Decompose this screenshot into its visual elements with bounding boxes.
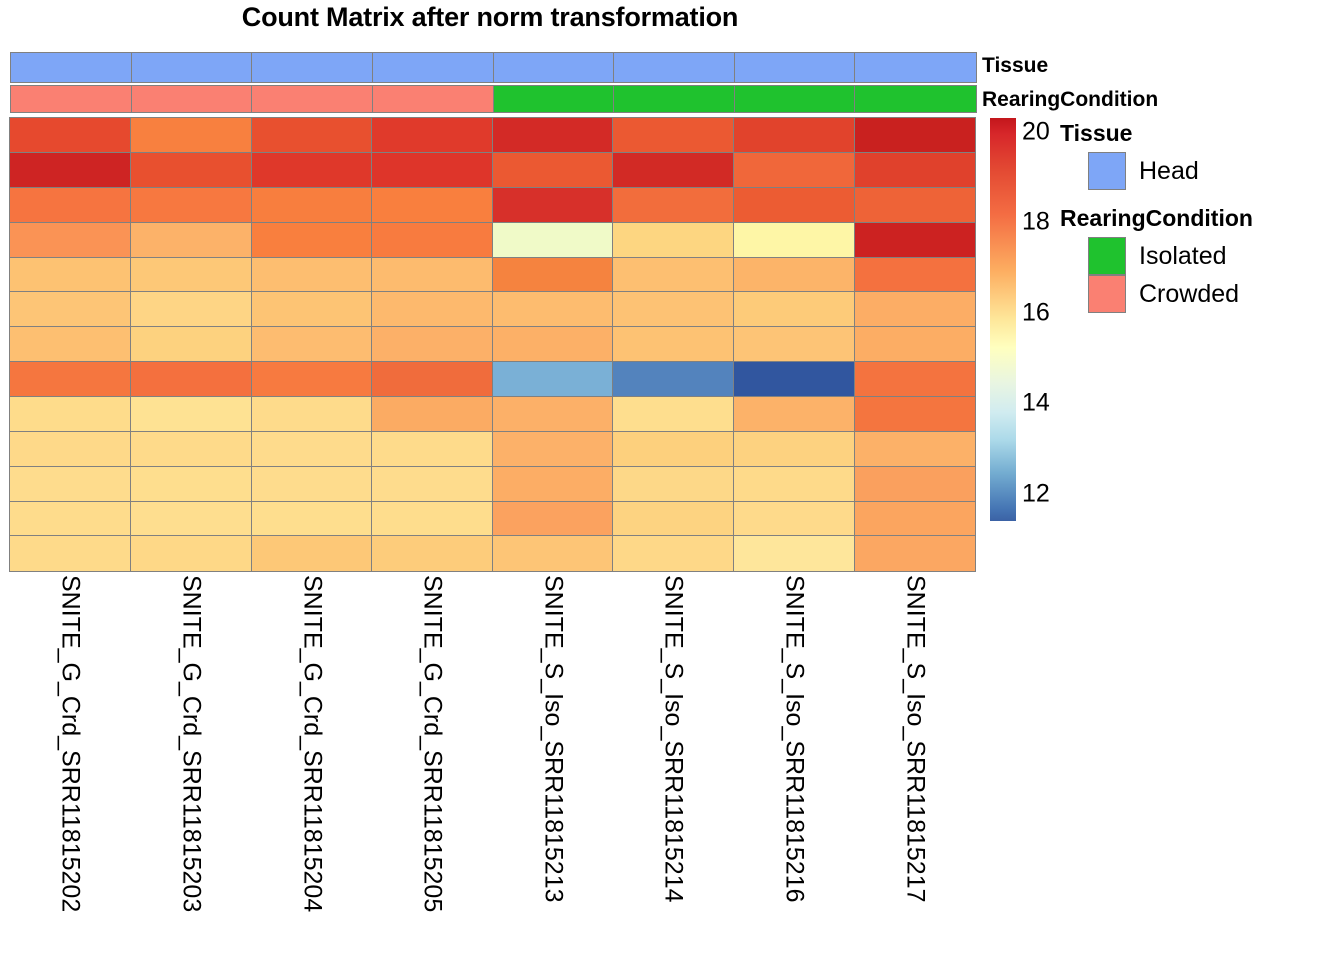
heatmap-cell bbox=[492, 326, 614, 362]
heatmap-cell bbox=[130, 187, 252, 223]
heatmap-cell bbox=[492, 535, 614, 571]
heatmap-cell bbox=[9, 117, 131, 153]
colorbar: 2018161412 bbox=[990, 118, 1016, 521]
heatmap-cell bbox=[612, 326, 734, 362]
colorbar-tick-label: 16 bbox=[1022, 298, 1050, 327]
heatmap-cell bbox=[854, 291, 976, 327]
heatmap-cell bbox=[492, 152, 614, 188]
heatmap-cell bbox=[130, 535, 252, 571]
heatmap-cell bbox=[492, 187, 614, 223]
heatmap-cell bbox=[612, 257, 734, 293]
heatmap-cell bbox=[251, 152, 373, 188]
legend-rearingcondition: RearingCondition IsolatedCrowded bbox=[1060, 205, 1253, 313]
annotation-rearingcondition-cell bbox=[10, 85, 132, 113]
heatmap-cell bbox=[130, 222, 252, 258]
column-label: SNITE_G_Crd_SRR11815202 bbox=[56, 575, 85, 912]
heatmap-cell bbox=[130, 257, 252, 293]
heatmap-cell bbox=[130, 396, 252, 432]
heatmap-cell bbox=[371, 431, 493, 467]
heatmap-cell bbox=[854, 535, 976, 571]
annotation-rearingcondition-cell bbox=[734, 85, 856, 113]
annotation-rearingcondition-cell bbox=[131, 85, 253, 113]
heatmap-cell bbox=[371, 326, 493, 362]
heatmap-cell bbox=[612, 291, 734, 327]
column-label: SNITE_S_Iso_SRR11815213 bbox=[538, 575, 567, 903]
page-title: Count Matrix after norm transformation bbox=[0, 2, 980, 33]
heatmap-cell bbox=[854, 501, 976, 537]
heatmap-cell bbox=[733, 291, 855, 327]
heatmap-cell bbox=[612, 501, 734, 537]
heatmap-cell bbox=[371, 222, 493, 258]
heatmap-cell bbox=[371, 535, 493, 571]
heatmap-cell bbox=[9, 396, 131, 432]
heatmap-cell bbox=[9, 466, 131, 502]
heatmap-cell bbox=[492, 361, 614, 397]
column-label-wrapper: SNITE_S_Iso_SRR11815217 bbox=[854, 575, 975, 955]
legend-title-tissue: Tissue bbox=[1060, 120, 1199, 147]
heatmap-cell bbox=[612, 466, 734, 502]
annotation-bar-tissue bbox=[10, 52, 975, 83]
heatmap-cell bbox=[371, 187, 493, 223]
heatmap-cell bbox=[733, 361, 855, 397]
column-label: SNITE_G_Crd_SRR11815204 bbox=[297, 575, 326, 912]
heatmap-cell bbox=[612, 222, 734, 258]
column-label: SNITE_G_Crd_SRR11815203 bbox=[176, 575, 205, 912]
heatmap-cell bbox=[492, 501, 614, 537]
annotation-rearingcondition-cell bbox=[854, 85, 976, 113]
heatmap-cell bbox=[854, 257, 976, 293]
legend-label-head: Head bbox=[1139, 157, 1199, 186]
column-label-wrapper: SNITE_S_Iso_SRR11815213 bbox=[493, 575, 614, 955]
heatmap-cell bbox=[733, 431, 855, 467]
heatmap-cell bbox=[854, 431, 976, 467]
annotation-tissue-cell bbox=[854, 52, 976, 83]
heatmap-cell bbox=[371, 291, 493, 327]
heatmap-cell bbox=[9, 222, 131, 258]
heatmap-cell bbox=[492, 466, 614, 502]
annotation-rearingcondition-cell bbox=[372, 85, 494, 113]
column-label-wrapper: SNITE_S_Iso_SRR11815214 bbox=[613, 575, 734, 955]
heatmap-cell bbox=[854, 361, 976, 397]
heatmap-cell bbox=[251, 187, 373, 223]
heatmap-cell bbox=[251, 501, 373, 537]
column-label-wrapper: SNITE_G_Crd_SRR11815205 bbox=[372, 575, 493, 955]
heatmap-cell bbox=[371, 501, 493, 537]
annotation-bar-rearingcondition bbox=[10, 85, 975, 113]
colorbar-tick-label: 14 bbox=[1022, 389, 1050, 418]
heatmap-cell bbox=[130, 466, 252, 502]
heatmap-cell bbox=[371, 361, 493, 397]
heatmap-cell bbox=[492, 222, 614, 258]
heatmap-cell bbox=[251, 535, 373, 571]
legend-entry-isolated[interactable]: Isolated bbox=[1060, 237, 1253, 275]
heatmap-cell bbox=[9, 326, 131, 362]
heatmap-cell bbox=[371, 152, 493, 188]
column-label-wrapper: SNITE_S_Iso_SRR11815216 bbox=[734, 575, 855, 955]
heatmap-cell bbox=[854, 152, 976, 188]
heatmap-cell bbox=[492, 257, 614, 293]
annotation-tissue-cell bbox=[251, 52, 373, 83]
heatmap-cell bbox=[9, 361, 131, 397]
legend-swatch-isolated bbox=[1088, 237, 1126, 275]
heatmap-cell bbox=[9, 291, 131, 327]
colorbar-tick-label: 12 bbox=[1022, 479, 1050, 508]
heatmap-cell bbox=[612, 431, 734, 467]
heatmap-cell bbox=[371, 466, 493, 502]
heatmap-cell bbox=[9, 257, 131, 293]
heatmap-cell bbox=[251, 326, 373, 362]
heatmap-cell bbox=[251, 257, 373, 293]
colorbar-tick-label: 18 bbox=[1022, 208, 1050, 237]
heatmap-figure: Count Matrix after norm transformation T… bbox=[0, 0, 1344, 960]
heatmap-cell bbox=[733, 117, 855, 153]
heatmap-cell bbox=[854, 222, 976, 258]
colorbar-tick-label: 20 bbox=[1022, 117, 1050, 146]
heatmap-cell bbox=[251, 291, 373, 327]
colorbar-gradient bbox=[990, 118, 1016, 521]
heatmap-cell bbox=[251, 222, 373, 258]
annotation-tissue-cell bbox=[613, 52, 735, 83]
heatmap-cell bbox=[854, 326, 976, 362]
heatmap-cell bbox=[854, 466, 976, 502]
legend-swatch-head bbox=[1088, 152, 1126, 190]
heatmap-cell bbox=[492, 291, 614, 327]
annotation-tissue-cell bbox=[372, 52, 494, 83]
heatmap-cell bbox=[251, 361, 373, 397]
column-label: SNITE_S_Iso_SRR11815216 bbox=[780, 575, 809, 903]
annotation-label-tissue: Tissue bbox=[982, 54, 1048, 78]
heatmap-grid bbox=[10, 118, 975, 571]
heatmap-cell bbox=[612, 152, 734, 188]
column-label-wrapper: SNITE_G_Crd_SRR11815203 bbox=[131, 575, 252, 955]
heatmap-cell bbox=[733, 501, 855, 537]
heatmap-cell bbox=[130, 117, 252, 153]
column-label-wrapper: SNITE_G_Crd_SRR11815202 bbox=[10, 575, 131, 955]
legend-title-rearingcondition: RearingCondition bbox=[1060, 205, 1253, 232]
heatmap-cell bbox=[733, 466, 855, 502]
heatmap-cell bbox=[733, 152, 855, 188]
heatmap-cell bbox=[9, 431, 131, 467]
heatmap-cell bbox=[733, 222, 855, 258]
legend-swatch-crowded bbox=[1088, 275, 1126, 313]
heatmap-cell bbox=[854, 117, 976, 153]
heatmap-cell bbox=[492, 431, 614, 467]
heatmap-cell bbox=[733, 535, 855, 571]
heatmap-cell bbox=[612, 187, 734, 223]
annotation-tissue-cell bbox=[734, 52, 856, 83]
column-label: SNITE_G_Crd_SRR11815205 bbox=[418, 575, 447, 912]
column-label: SNITE_S_Iso_SRR11815217 bbox=[900, 575, 929, 903]
heatmap-cell bbox=[9, 187, 131, 223]
heatmap-cell bbox=[612, 117, 734, 153]
annotation-label-rearingcondition: RearingCondition bbox=[982, 88, 1158, 112]
heatmap-cell bbox=[251, 117, 373, 153]
column-label-wrapper: SNITE_G_Crd_SRR11815204 bbox=[251, 575, 372, 955]
heatmap-cell bbox=[733, 396, 855, 432]
legend-entry-head[interactable]: Head bbox=[1060, 152, 1199, 190]
heatmap-cell bbox=[733, 187, 855, 223]
heatmap-cell bbox=[130, 431, 252, 467]
column-labels: SNITE_G_Crd_SRR11815202SNITE_G_Crd_SRR11… bbox=[10, 575, 975, 955]
legend-tissue: Tissue Head bbox=[1060, 120, 1199, 190]
heatmap-cell bbox=[612, 535, 734, 571]
heatmap-cell bbox=[492, 117, 614, 153]
heatmap-cell bbox=[9, 152, 131, 188]
heatmap-cell bbox=[612, 361, 734, 397]
heatmap-cell bbox=[130, 152, 252, 188]
legend-label-isolated: Isolated bbox=[1139, 242, 1227, 271]
heatmap-cell bbox=[492, 396, 614, 432]
heatmap-cell bbox=[130, 361, 252, 397]
heatmap-cell bbox=[9, 535, 131, 571]
annotation-rearingcondition-cell bbox=[251, 85, 373, 113]
heatmap-cell bbox=[130, 501, 252, 537]
legend-label-crowded: Crowded bbox=[1139, 280, 1239, 309]
heatmap-cell bbox=[251, 396, 373, 432]
heatmap-cell bbox=[371, 396, 493, 432]
legend-entry-crowded[interactable]: Crowded bbox=[1060, 275, 1253, 313]
heatmap-cell bbox=[733, 326, 855, 362]
annotation-rearingcondition-cell bbox=[493, 85, 615, 113]
annotation-rearingcondition-cell bbox=[613, 85, 735, 113]
heatmap-cell bbox=[130, 326, 252, 362]
heatmap-cell bbox=[854, 187, 976, 223]
heatmap-cell bbox=[733, 257, 855, 293]
heatmap-cell bbox=[854, 396, 976, 432]
column-label: SNITE_S_Iso_SRR11815214 bbox=[659, 575, 688, 903]
heatmap-cell bbox=[251, 466, 373, 502]
annotation-tissue-cell bbox=[131, 52, 253, 83]
heatmap-cell bbox=[371, 257, 493, 293]
heatmap-cell bbox=[612, 396, 734, 432]
heatmap-cell bbox=[130, 291, 252, 327]
heatmap-cell bbox=[371, 117, 493, 153]
heatmap-cell bbox=[251, 431, 373, 467]
heatmap-cell bbox=[9, 501, 131, 537]
annotation-tissue-cell bbox=[493, 52, 615, 83]
annotation-tissue-cell bbox=[10, 52, 132, 83]
